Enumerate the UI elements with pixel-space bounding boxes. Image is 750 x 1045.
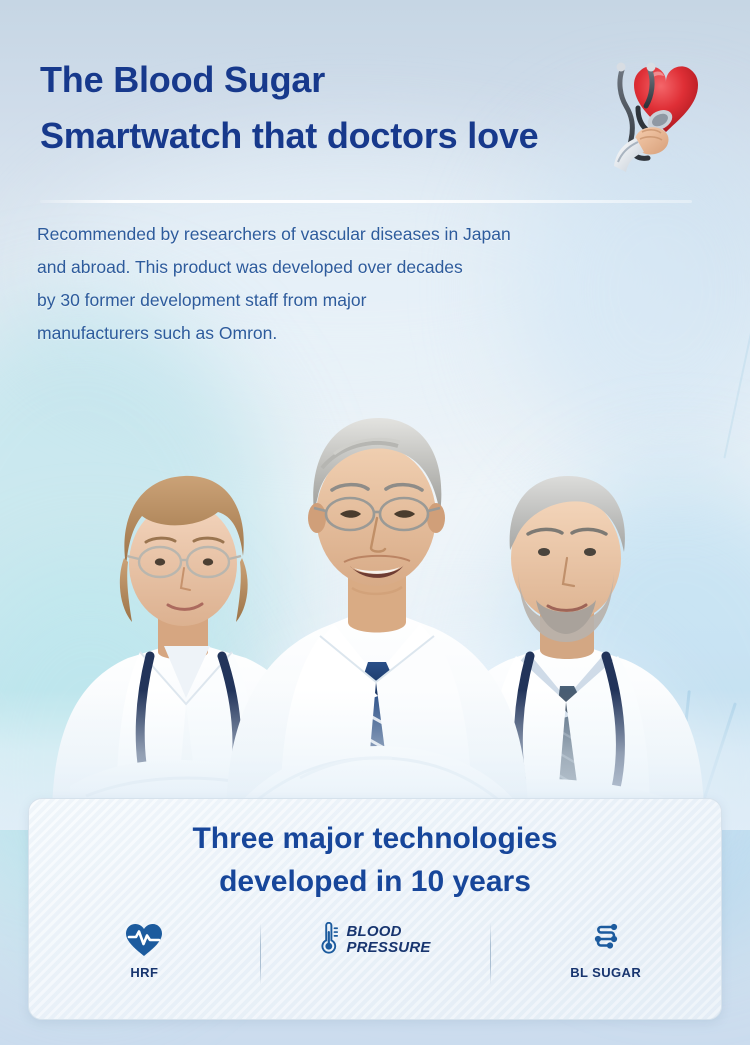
headline-line-1: The Blood Sugar: [40, 52, 660, 108]
bp-label-line-1: BLOOD: [346, 924, 430, 940]
tech-card-title: Three major technologies developed in 10…: [29, 817, 721, 903]
tech-item-label: BLOOD PRESSURE: [346, 924, 430, 956]
page-title: The Blood Sugar Smartwatch that doctors …: [40, 52, 660, 164]
intro-line-4: manufacturers such as Omron.: [37, 317, 657, 350]
header-divider: [40, 200, 692, 203]
headline-line-2: Smartwatch that doctors love: [40, 108, 660, 164]
heart-pulse-icon: [125, 921, 163, 959]
heart-stethoscope-icon: [590, 48, 718, 173]
three-technologies-card: Three major technologies developed in 10…: [28, 798, 722, 1020]
tech-item-hrf[interactable]: HRF: [29, 919, 260, 1003]
intro-line-3: by 30 former development staff from majo…: [37, 284, 657, 317]
glucose-path-icon: [588, 921, 624, 959]
bp-label-line-2: PRESSURE: [346, 940, 430, 956]
intro-paragraph: Recommended by researchers of vascular d…: [37, 218, 657, 350]
thermometer-icon: [319, 922, 339, 959]
tech-title-line-2: developed in 10 years: [29, 860, 721, 903]
tech-item-blood-pressure[interactable]: BLOOD PRESSURE: [260, 919, 491, 1003]
three-doctors-photo: [0, 300, 750, 820]
tech-title-line-1: Three major technologies: [29, 817, 721, 860]
intro-line-2: and abroad. This product was developed o…: [37, 251, 657, 284]
intro-line-1: Recommended by researchers of vascular d…: [37, 218, 657, 251]
tech-item-label: BL SUGAR: [570, 966, 641, 980]
tech-item-bl-sugar[interactable]: BL SUGAR: [490, 919, 721, 1003]
tech-item-label: HRF: [130, 966, 158, 980]
tech-feature-row: HRF: [29, 919, 721, 1003]
poster-root: The Blood Sugar Smartwatch that doctors …: [0, 0, 750, 1045]
